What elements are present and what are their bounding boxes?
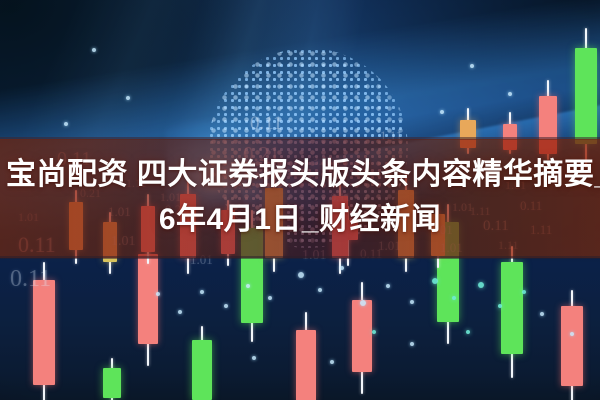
vignette-overlay bbox=[0, 0, 600, 400]
news-thumbnail-image: 0.110.110.111.011.011.111.011.011.010.21… bbox=[0, 0, 600, 400]
